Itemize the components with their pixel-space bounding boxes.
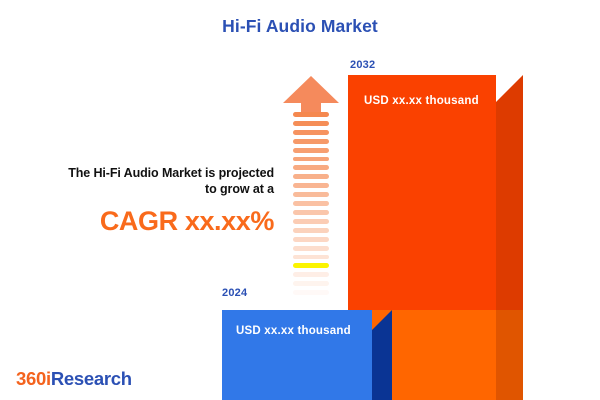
arrow-stripe <box>293 246 329 251</box>
growth-arrow-group <box>283 76 339 304</box>
cagr-callout: The Hi-Fi Audio Market is projected to g… <box>16 165 274 236</box>
bar-2024-front <box>222 310 372 400</box>
arrow-stripe <box>293 272 329 277</box>
bar-2024-year-label: 2024 <box>222 287 247 299</box>
arrow-stripe <box>293 183 329 188</box>
cagr-value: CAGR xx.xx% <box>16 206 274 236</box>
bar-2032-value-label: USD xx.xx thousand <box>364 95 479 107</box>
arrow-stripe <box>293 255 329 260</box>
arrow-stripe <box>293 263 329 268</box>
arrow-stripe <box>293 210 329 215</box>
arrow-stripe <box>293 290 329 295</box>
bar-2024-value-label: USD xx.xx thousand <box>236 325 351 337</box>
infographic-canvas: Hi-Fi Audio Market 2032 USD xx.xx thousa… <box>0 0 600 400</box>
arrow-stripe <box>293 228 329 233</box>
logo-text-360i: 360i <box>16 368 51 389</box>
cagr-lead-line1: The Hi-Fi Audio Market is projected <box>68 166 274 180</box>
arrow-stripe <box>293 192 329 197</box>
arrow-stripe <box>293 237 329 242</box>
arrow-stripe <box>293 219 329 224</box>
arrow-stripe <box>293 139 329 144</box>
bar-2032-front-upper <box>348 75 496 310</box>
arrow-stripe <box>293 174 329 179</box>
bar-2032-side-lower <box>496 310 523 400</box>
arrow-stripe <box>293 165 329 170</box>
brand-logo: 360iResearch <box>16 368 132 390</box>
up-arrow-icon <box>283 76 339 112</box>
page-title: Hi-Fi Audio Market <box>0 16 600 37</box>
bar-2032-side-upper <box>496 75 523 310</box>
arrow-stripe <box>293 121 329 126</box>
bar-2032-year-label: 2032 <box>350 59 375 71</box>
arrow-stripe <box>293 299 329 304</box>
arrow-stripe <box>293 157 329 162</box>
arrow-stripe <box>293 130 329 135</box>
arrow-stripe <box>293 281 329 286</box>
arrow-stripe <box>293 112 329 117</box>
cagr-lead-line2: to grow at a <box>205 182 274 196</box>
arrow-stripe-stack <box>293 112 329 304</box>
arrow-stripe <box>293 201 329 206</box>
arrow-stripe <box>293 148 329 153</box>
logo-text-research: Research <box>51 368 132 389</box>
